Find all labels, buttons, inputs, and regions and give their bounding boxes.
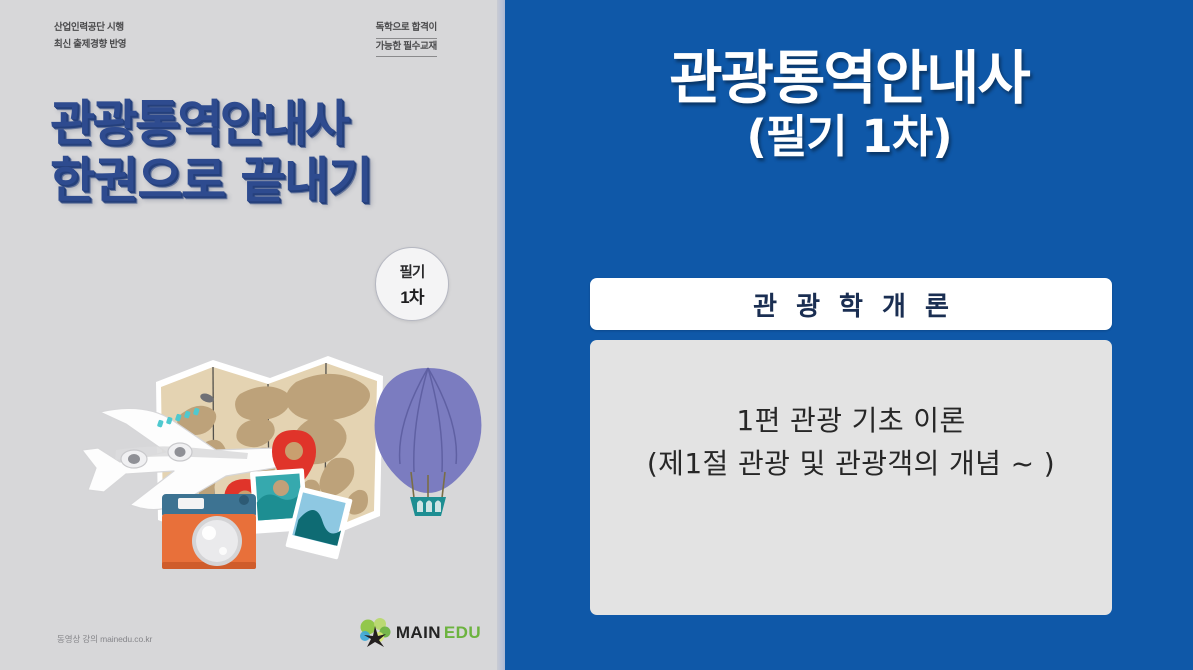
- travel-illustration: [8, 320, 498, 600]
- content-box: 1편 관광 기초 이론 (제1절 관광 및 관광객의 개념 ~ ): [590, 340, 1112, 615]
- cover-kicker-right-line2: 가능한 필수교재: [376, 39, 437, 58]
- cover-title-line2: 한권으로 끝내기: [50, 153, 480, 210]
- cover-title-line1: 관광통역안내사: [50, 96, 480, 153]
- tree-logo-icon: [359, 618, 393, 648]
- cover-credit: 동영상 강의 mainedu.co.kr: [57, 633, 152, 645]
- cover-kicker-left-line1: 산업인력공단 시행: [54, 20, 126, 37]
- slide-title-line2: (필기 1차): [505, 111, 1193, 163]
- cover-kicker-right-line1: 독학으로 합격이: [376, 20, 437, 39]
- cover-badge: 필기 1차: [375, 247, 449, 321]
- camera-icon: [162, 494, 256, 569]
- cover-badge-line2: 1차: [400, 283, 424, 308]
- cover-badge-line1: 필기: [399, 261, 424, 282]
- cover-kicker-left-line2: 최신 출제경향 반영: [54, 37, 126, 54]
- slide-screenshot: 산업인력공단 시행 최신 출제경향 반영 독학으로 합격이 가능한 필수교재 관…: [0, 0, 1193, 670]
- content-line-1: 1편 관광 기초 이론: [736, 400, 965, 443]
- hot-air-balloon-icon: [375, 368, 482, 516]
- content-line-2: (제1절 관광 및 관광객의 개념 ~ ): [647, 443, 1055, 486]
- slide-title: 관광통역안내사 (필기 1차): [505, 46, 1193, 163]
- logo-text-edu: EDU: [444, 623, 481, 643]
- subject-bar: 관 광 학 개 론: [590, 278, 1112, 330]
- cover-kicker-left: 산업인력공단 시행 최신 출제경향 반영: [54, 20, 126, 53]
- cover-title: 관광통역안내사 한권으로 끝내기: [50, 96, 480, 210]
- slide-panel: 관광통역안내사 (필기 1차) 관 광 학 개 론 1편 관광 기초 이론 (제…: [505, 0, 1193, 670]
- slide-title-line1: 관광통역안내사: [505, 46, 1193, 111]
- subject-label: 관 광 학 개 론: [748, 286, 954, 323]
- mainedu-logo: MAINEDU: [359, 618, 481, 648]
- book-cover-image: 산업인력공단 시행 최신 출제경향 반영 독학으로 합격이 가능한 필수교재 관…: [0, 0, 505, 670]
- logo-text-main: MAIN: [396, 623, 441, 643]
- book-spine-edge: [497, 0, 505, 670]
- cover-kicker-right: 독학으로 합격이 가능한 필수교재: [376, 20, 437, 57]
